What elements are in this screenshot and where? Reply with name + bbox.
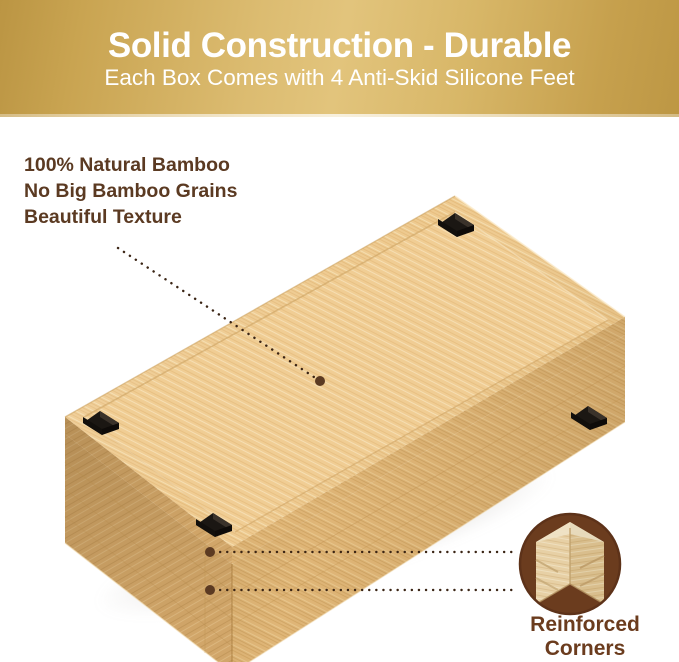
header-banner: Solid Construction - Durable Each Box Co… <box>0 0 679 117</box>
reinforced-corners-label: Reinforced Corners <box>492 613 678 661</box>
feature-callout-line-1: 100% Natural Bamboo <box>24 152 237 178</box>
reinforced-label-line-1: Reinforced <box>492 613 678 637</box>
reinforced-label-line-2: Corners <box>492 637 678 661</box>
feature-callout-text: 100% Natural Bamboo No Big Bamboo Grains… <box>24 152 237 230</box>
page-title: Solid Construction - Durable <box>108 28 571 63</box>
feature-callout-line-3: Beautiful Texture <box>24 204 237 230</box>
reinforced-corner-inset <box>518 512 622 616</box>
page-subtitle: Each Box Comes with 4 Anti-Skid Silicone… <box>104 67 574 90</box>
feature-callout-line-2: No Big Bamboo Grains <box>24 178 237 204</box>
product-infographic: Solid Construction - Durable Each Box Co… <box>0 0 679 662</box>
